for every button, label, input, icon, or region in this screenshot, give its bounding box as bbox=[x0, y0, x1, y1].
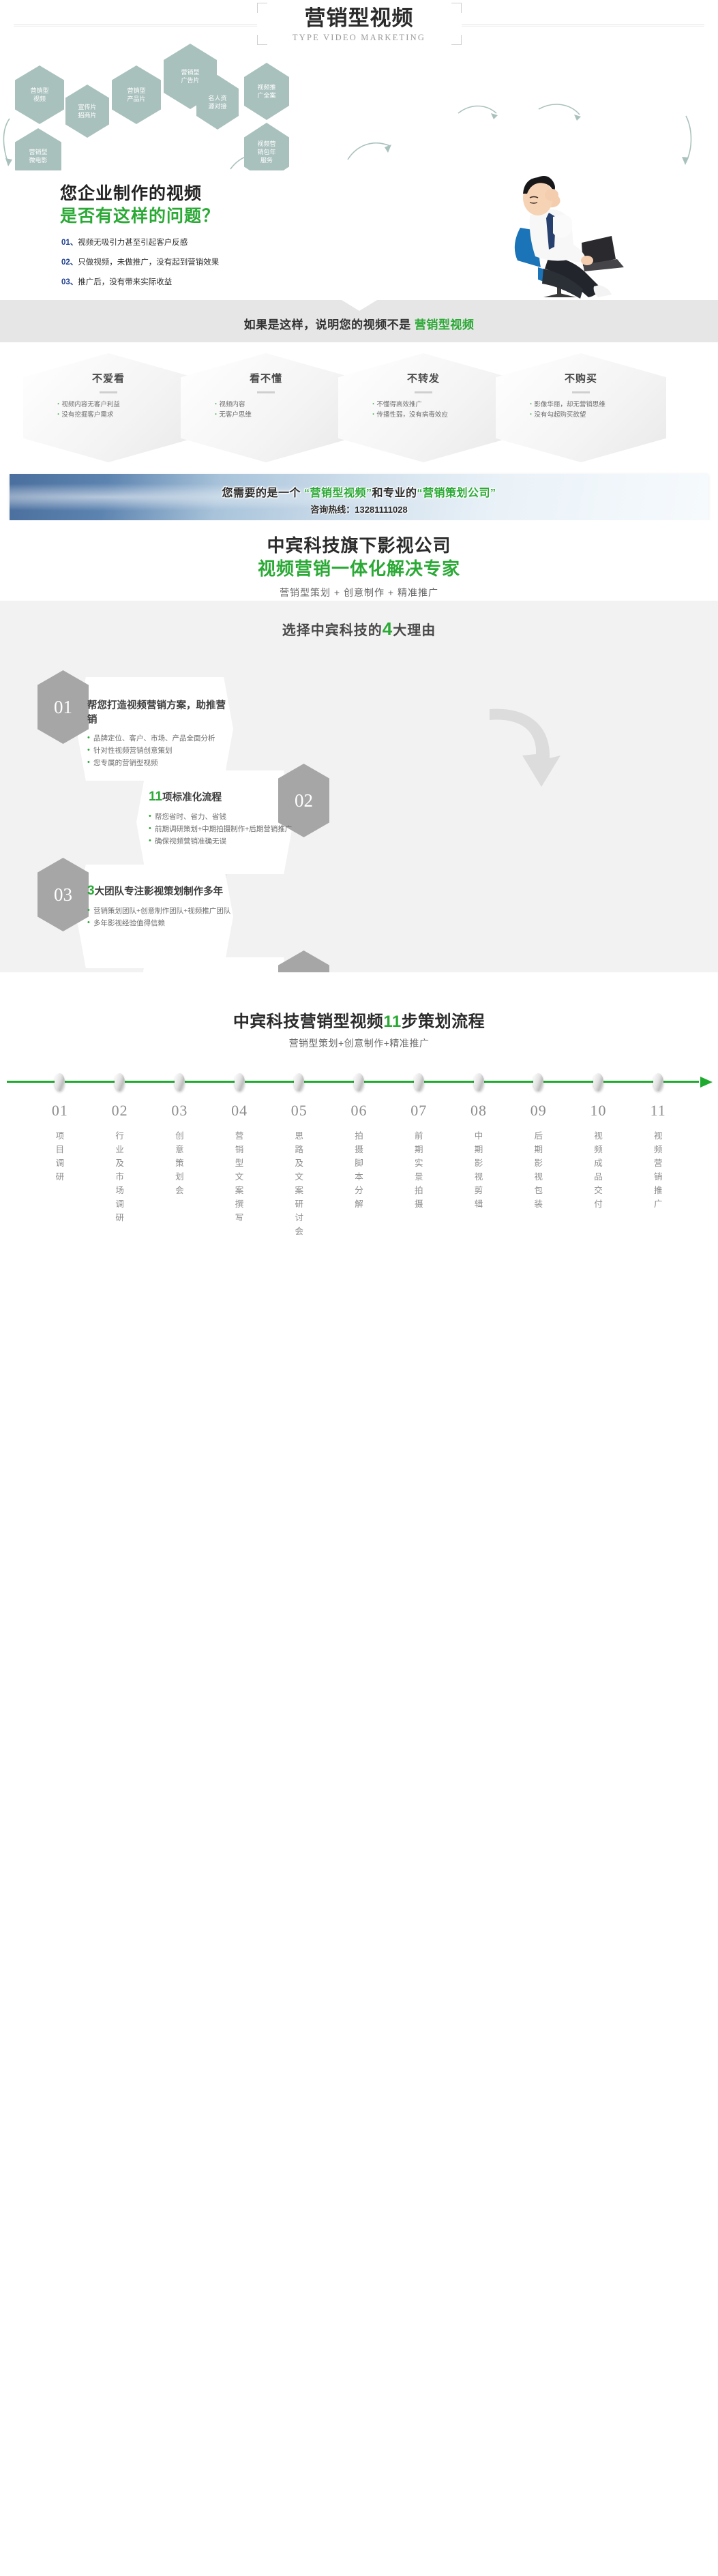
problem-section: 您企业制作的视频 是否有这样的问题？ 01、视频无吸引力甚至引起客户反感 02、… bbox=[0, 170, 718, 300]
timeline-dot-icon bbox=[593, 1073, 603, 1091]
cta-headline-highlight1: “营销型视频” bbox=[304, 488, 372, 499]
step-item-0-number: 01 bbox=[30, 1102, 90, 1120]
step-item-9-number: 10 bbox=[569, 1102, 629, 1120]
reason-card-0-bullet: 针对性视频营销创意策划 bbox=[87, 745, 230, 757]
problem-item: 01、视频无吸引力甚至引起客户反感 bbox=[61, 237, 219, 248]
hex-item-7-line2: 销包年 bbox=[257, 148, 275, 156]
step-item-5-label: 拍摄脚本分解 bbox=[354, 1129, 365, 1211]
bullet-dot-icon: · bbox=[372, 400, 375, 408]
symptom-card-0-title: 不爱看 bbox=[92, 371, 125, 385]
banner-text: 如果是这样，说明您的视频不是 营销型视频 bbox=[0, 315, 718, 332]
problem-item-0-text: 视频无吸引力甚至引起客户反感 bbox=[78, 239, 188, 247]
banner-text-plain: 如果是这样，说明您的视频不是 bbox=[244, 318, 415, 331]
problem-item: 02、只做视频，未做推广，没有起到营销效果 bbox=[61, 256, 219, 267]
reasons-title: 选择中宾科技的4大理由 bbox=[0, 601, 718, 640]
symptom-card-0-bullet: · 视频内容无客户利益 bbox=[57, 400, 160, 410]
symptom-card-3-bullet: · 没有勾起购买欲望 bbox=[530, 410, 632, 420]
problem-item-1-number: 02、 bbox=[61, 258, 78, 267]
step-item-9[interactable]: 10 视频成品交付 bbox=[569, 1073, 629, 1238]
symptom-cards-row: 不爱看 · 视频内容无客户利益 · 没有挖掘客户需求 看不懂 · 视频内容 · … bbox=[0, 353, 718, 462]
reasons-title-part1: 选择中宾科技的 bbox=[282, 623, 383, 638]
reason-card-2-heading: 3大团队专注影视策划制作多年 bbox=[87, 884, 232, 899]
reason-card-1-heading: 11项标准化流程 bbox=[149, 790, 293, 805]
symptom-card-1-bullet: · 无客户思维 bbox=[215, 410, 317, 420]
page-title: 营销型视频 bbox=[257, 3, 462, 32]
problem-item-2-number: 03、 bbox=[61, 278, 78, 286]
symptom-card-2-divider bbox=[415, 391, 432, 393]
flow-arrow-1-icon bbox=[485, 702, 560, 791]
step-item-7[interactable]: 08 中期影视剪辑 bbox=[449, 1073, 509, 1238]
problem-list: 01、视频无吸引力甚至引起客户反感 02、只做视频，未做推广，没有起到营销效果 … bbox=[61, 237, 219, 296]
hex-item-6-line2: 广全案 bbox=[257, 91, 275, 100]
reason-card-2-body[interactable]: 3大团队专注影视策划制作多年 营销策划团队+创意制作团队+视频推广团队 多年影视… bbox=[87, 884, 232, 929]
step-item-2[interactable]: 03 创意策划会 bbox=[149, 1073, 209, 1238]
step-item-3-label: 营销型文案撰写 bbox=[234, 1129, 245, 1225]
timeline-columns: 01 项目调研 02 行业及市场调研 03 创意策划会 04 营销型文案撰写 0… bbox=[0, 1073, 718, 1238]
header-corner-marks bbox=[257, 35, 462, 45]
bullet-dot-icon: · bbox=[215, 410, 218, 419]
bullet-dot-icon: · bbox=[57, 410, 60, 419]
step-item-8[interactable]: 09 后期影视包装 bbox=[509, 1073, 569, 1238]
hex-item-6-line1: 视频推 bbox=[257, 83, 275, 91]
step-item-6-label: 前期实景拍摄 bbox=[413, 1129, 424, 1211]
step-item-9-label: 视频成品交付 bbox=[593, 1129, 603, 1211]
hex-cloud-section: 营销型 视频 宣传片 招商片 营销型 微电影 营销型 产品片 营销型 广告片 名… bbox=[0, 48, 718, 170]
symptom-card-1-title: 看不懂 bbox=[250, 371, 282, 385]
symptom-card-3-bullet: · 影像华丽，却无营销思维 bbox=[530, 400, 632, 410]
step-item-2-label: 创意策划会 bbox=[174, 1129, 185, 1197]
symptom-card-3-divider bbox=[572, 391, 590, 393]
cta-hotline[interactable]: 咨询热线：13281111028 bbox=[10, 503, 708, 515]
steps-title-part2: 步策划流程 bbox=[402, 1013, 485, 1031]
problem-item-0-number: 01、 bbox=[61, 239, 78, 247]
problem-item-1-text: 只做视频，未做推广，没有起到营销效果 bbox=[78, 258, 219, 267]
steps-timeline: 01 项目调研 02 行业及市场调研 03 创意策划会 04 营销型文案撰写 0… bbox=[0, 1073, 718, 1237]
symptom-card-0-bullet: · 没有挖掘客户需求 bbox=[57, 410, 160, 420]
step-item-4-label: 思路及文案研讨会 bbox=[294, 1129, 305, 1238]
step-item-8-number: 09 bbox=[509, 1102, 569, 1120]
company-tagline: 视频营销一体化解决专家 bbox=[0, 557, 718, 580]
timeline-dot-icon bbox=[55, 1073, 65, 1091]
reason-card-2-bullet: 营销策划团队+创意制作团队+视频推广团队 bbox=[87, 905, 232, 917]
hex-item-2-line1: 营销型 bbox=[29, 148, 47, 156]
problem-title-line2: 是否有这样的问题？ bbox=[60, 203, 220, 227]
banner-notch-top-icon bbox=[342, 300, 377, 311]
step-item-10-number: 11 bbox=[628, 1102, 688, 1120]
reason-card-0-badge: 01 bbox=[38, 670, 89, 744]
bullet-dot-icon: · bbox=[372, 410, 375, 419]
reason-card-0-bullet: 您专属的营销型视频 bbox=[87, 757, 230, 769]
steps-title-part1: 中宾科技营销型视频 bbox=[233, 1013, 384, 1031]
step-item-4[interactable]: 05 思路及文案研讨会 bbox=[269, 1073, 329, 1238]
symptom-card-0[interactable]: 不爱看 · 视频内容无客户利益 · 没有挖掘客户需求 bbox=[23, 353, 194, 462]
symptom-card-2[interactable]: 不转发 · 不懂得高效推广 · 传播性弱，没有病毒效应 bbox=[338, 353, 509, 462]
symptom-card-3[interactable]: 不购买 · 影像华丽，却无营销思维 · 没有勾起购买欲望 bbox=[496, 353, 666, 462]
timeline-dot-icon bbox=[474, 1073, 484, 1091]
step-item-6[interactable]: 07 前期实景拍摄 bbox=[389, 1073, 449, 1238]
hex-item-5-line2: 源对接 bbox=[208, 102, 226, 110]
hex-item-4-line1: 营销型 bbox=[181, 68, 199, 76]
steps-subtitle: 营销型策划+创意制作+精准推广 bbox=[0, 1036, 718, 1050]
symptom-card-2-bullet: · 传播性弱，没有病毒效应 bbox=[372, 410, 475, 420]
hex-item-1-line1: 宣传片 bbox=[78, 103, 96, 111]
hex-item-0-line1: 营销型 bbox=[30, 87, 48, 95]
hex-item-6: 视频推 广全案 bbox=[244, 63, 289, 120]
timeline-dot-icon bbox=[294, 1073, 304, 1091]
bullet-dot-icon: · bbox=[215, 400, 218, 408]
reason-card-1-bullet: 前期调研策划+中期拍摄制作+后期营销推广 bbox=[149, 823, 293, 835]
cta-blue-banner: 您需要的是一个 “营销型视频”和专业的“营销策划公司” 咨询热线：1328111… bbox=[10, 474, 708, 520]
reason-card-1-heading-number: 11 bbox=[149, 790, 162, 804]
hex-item-0-line2: 视频 bbox=[30, 95, 48, 103]
businessman-photo bbox=[473, 175, 650, 300]
banner-text-highlight: 营销型视频 bbox=[415, 318, 475, 331]
hex-item-5-line1: 名人资 bbox=[208, 94, 226, 102]
reason-card-0-bullet: 品牌定位、客户、市场、产品全面分析 bbox=[87, 732, 230, 745]
step-item-7-label: 中期影视剪辑 bbox=[473, 1129, 484, 1211]
timeline-dot-icon bbox=[533, 1073, 543, 1091]
bullet-dot-icon: · bbox=[530, 410, 533, 419]
problem-item: 03、推广后，没有带来实际收益 bbox=[61, 276, 219, 287]
hex-item-7-line3: 服务 bbox=[257, 156, 275, 164]
symptom-card-2-title: 不转发 bbox=[407, 371, 440, 385]
step-item-10-label: 视频营销推广 bbox=[653, 1129, 663, 1211]
step-item-3[interactable]: 04 营销型文案撰写 bbox=[209, 1073, 269, 1238]
step-item-0-label: 项目调研 bbox=[55, 1129, 65, 1184]
reasons-section: 选择中宾科技的4大理由 01 帮您打造视频营销方案，助推营销 品牌定位、客户、市… bbox=[0, 601, 718, 972]
hex-item-3: 营销型 产品片 bbox=[112, 65, 161, 124]
hex-item-3-line1: 营销型 bbox=[127, 87, 145, 95]
symptom-card-0-divider bbox=[100, 391, 117, 393]
step-item-5-number: 06 bbox=[329, 1102, 389, 1120]
cta-headline-part1: 您需要的是一个 bbox=[222, 488, 304, 499]
reason-card-2-heading-number: 3 bbox=[87, 884, 95, 898]
hex-item-2-line2: 微电影 bbox=[29, 156, 47, 164]
steps-title-number: 11 bbox=[383, 1013, 401, 1031]
cta-headline-part2: 和专业的 bbox=[372, 488, 417, 499]
grey-banner: 如果是这样，说明您的视频不是 营销型视频 bbox=[0, 300, 718, 342]
hex-item-1: 宣传片 招商片 bbox=[65, 85, 109, 138]
symptom-card-3-title: 不购买 bbox=[565, 371, 597, 385]
reason-card-1-bullet: 确保视频营销准确无误 bbox=[149, 835, 293, 848]
reason-card-0-body[interactable]: 帮您打造视频营销方案，助推营销 品牌定位、客户、市场、产品全面分析 针对性视频营… bbox=[87, 698, 230, 769]
company-name: 中宾科技旗下影视公司 bbox=[0, 534, 718, 557]
hex-item-4-line2: 广告片 bbox=[181, 76, 199, 85]
step-item-1-label: 行业及市场调研 bbox=[115, 1129, 125, 1225]
bullet-dot-icon: · bbox=[530, 400, 533, 408]
hex-item-1-line2: 招商片 bbox=[78, 111, 96, 119]
reason-card-0-heading: 帮您打造视频营销方案，助推营销 bbox=[87, 698, 230, 726]
reasons-title-number: 4 bbox=[383, 618, 393, 639]
step-item-6-number: 07 bbox=[389, 1102, 449, 1120]
step-item-1[interactable]: 02 行业及市场调研 bbox=[90, 1073, 150, 1238]
cta-headline-highlight2: “营销策划公司” bbox=[417, 488, 496, 499]
symptom-card-1[interactable]: 看不懂 · 视频内容 · 无客户思维 bbox=[181, 353, 351, 462]
symptom-cards-section: 不爱看 · 视频内容无客户利益 · 没有挖掘客户需求 看不懂 · 视频内容 · … bbox=[0, 342, 718, 462]
timeline-dot-icon bbox=[235, 1073, 245, 1091]
company-section: 中宾科技旗下影视公司 视频营销一体化解决专家 营销型策划 + 创意制作 + 精准… bbox=[0, 520, 718, 601]
step-item-1-number: 02 bbox=[90, 1102, 150, 1120]
header-title-box: 营销型视频 TYPE VIDEO MARKETING bbox=[257, 3, 462, 45]
timeline-dot-icon bbox=[354, 1073, 364, 1091]
problem-item-2-text: 推广后，没有带来实际收益 bbox=[78, 278, 172, 286]
timeline-dot-icon bbox=[414, 1073, 424, 1091]
reason-card-1-body[interactable]: 11项标准化流程 帮您省时、省力、省钱 前期调研策划+中期拍摄制作+后期营销推广… bbox=[149, 790, 293, 848]
step-item-5[interactable]: 06 拍摄脚本分解 bbox=[329, 1073, 389, 1238]
step-item-8-label: 后期影视包装 bbox=[533, 1129, 544, 1211]
step-item-10[interactable]: 11 视频营销推广 bbox=[628, 1073, 688, 1238]
bullet-dot-icon: · bbox=[57, 400, 60, 408]
hex-item-7-line1: 视频营 bbox=[257, 140, 275, 148]
step-item-3-number: 04 bbox=[209, 1102, 269, 1120]
symptom-card-2-bullet: · 不懂得高效推广 bbox=[372, 400, 475, 410]
timeline-dot-icon bbox=[653, 1073, 663, 1091]
hex-item-3-line2: 产品片 bbox=[127, 95, 145, 103]
steps-section: 中宾科技营销型视频11步策划流程 营销型策划+创意制作+精准推广 01 项目调研… bbox=[0, 972, 718, 1242]
reason-card-2-bullet: 多年影视经验值得信赖 bbox=[87, 917, 232, 929]
reasons-title-part2: 大理由 bbox=[393, 623, 436, 638]
symptom-card-1-bullet: · 视频内容 bbox=[215, 400, 317, 410]
reasons-flow: 01 帮您打造视频营销方案，助推营销 品牌定位、客户、市场、产品全面分析 针对性… bbox=[0, 640, 718, 960]
reason-card-2-badge: 03 bbox=[38, 858, 89, 931]
timeline-dot-icon bbox=[175, 1073, 185, 1091]
page-header: 营销型视频 TYPE VIDEO MARKETING bbox=[0, 0, 718, 48]
step-item-4-number: 05 bbox=[269, 1102, 329, 1120]
step-item-0[interactable]: 01 项目调研 bbox=[30, 1073, 90, 1238]
symptom-card-1-divider bbox=[257, 391, 275, 393]
step-item-2-number: 03 bbox=[149, 1102, 209, 1120]
steps-title: 中宾科技营销型视频11步策划流程 bbox=[0, 972, 718, 1032]
company-services: 营销型策划 + 创意制作 + 精准推广 bbox=[0, 586, 718, 599]
step-item-7-number: 08 bbox=[449, 1102, 509, 1120]
hex-item-0: 营销型 视频 bbox=[15, 65, 64, 124]
timeline-dot-icon bbox=[115, 1073, 125, 1091]
problem-title-line1: 您企业制作的视频 bbox=[60, 180, 202, 205]
reason-card-1-bullet: 帮您省时、省力、省钱 bbox=[149, 811, 293, 823]
cta-headline: 您需要的是一个 “营销型视频”和专业的“营销策划公司” bbox=[10, 483, 708, 500]
